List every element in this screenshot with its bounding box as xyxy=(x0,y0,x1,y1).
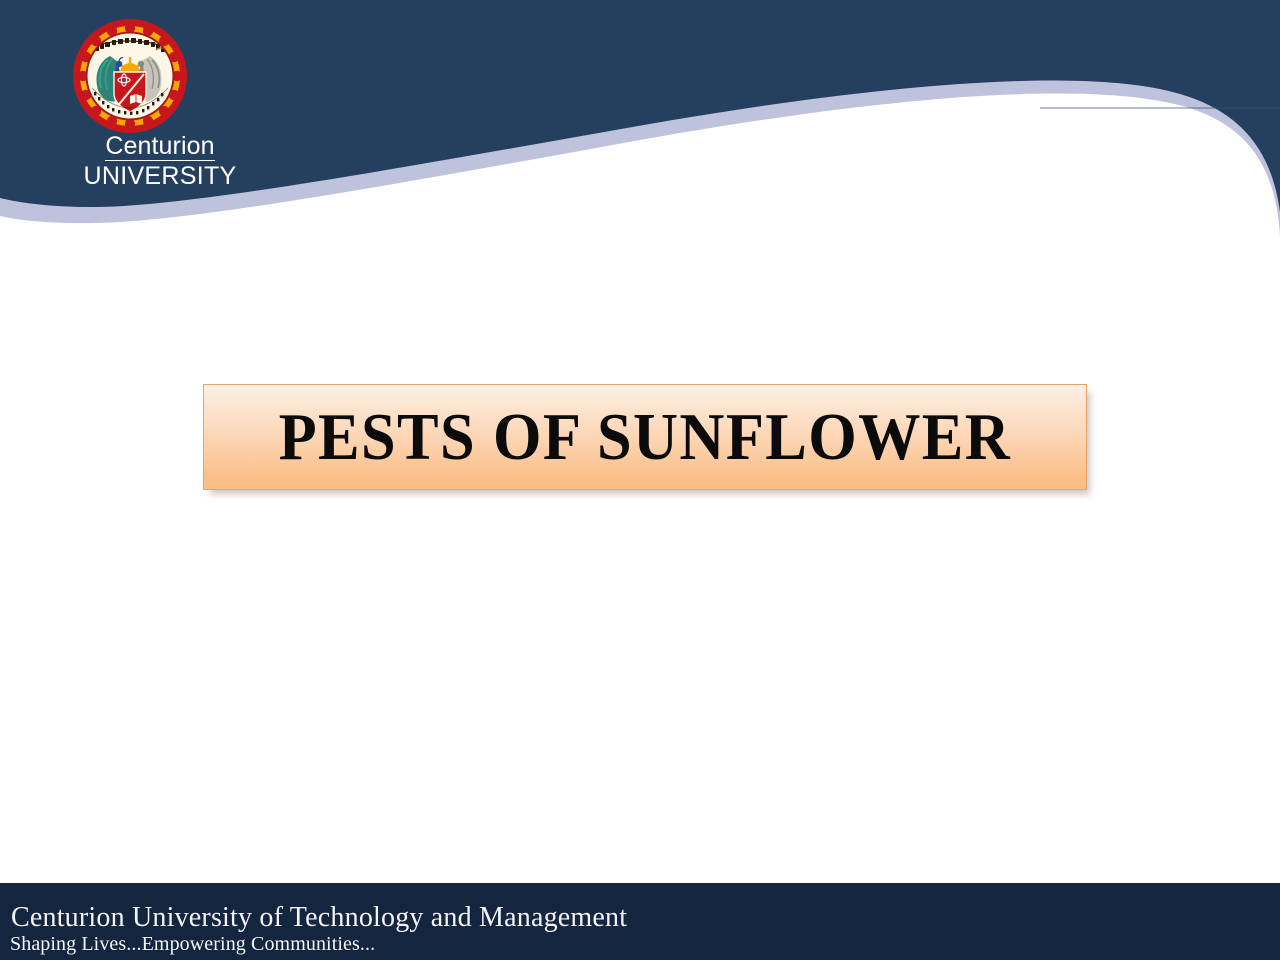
footer-university-name: Centurion University of Technology and M… xyxy=(11,902,627,934)
brand-wordmark: Centurion UNIVERSITY xyxy=(60,134,260,189)
page-title: PESTS OF SUNFLOWER xyxy=(279,404,1012,471)
brand-name-university: UNIVERSITY xyxy=(60,164,260,189)
slide-title-box: PESTS OF SUNFLOWER xyxy=(203,384,1087,490)
footer-tagline: Shaping Lives...Empowering Communities..… xyxy=(10,933,375,956)
presentation-slide: Centurion UNIVERSITY PESTS OF SUNFLOWER … xyxy=(0,0,1280,960)
university-emblem-icon xyxy=(64,16,196,141)
footer-band: Centurion University of Technology and M… xyxy=(0,883,1280,960)
brand-name-centurion: Centurion xyxy=(105,134,214,161)
university-logo xyxy=(64,16,196,141)
